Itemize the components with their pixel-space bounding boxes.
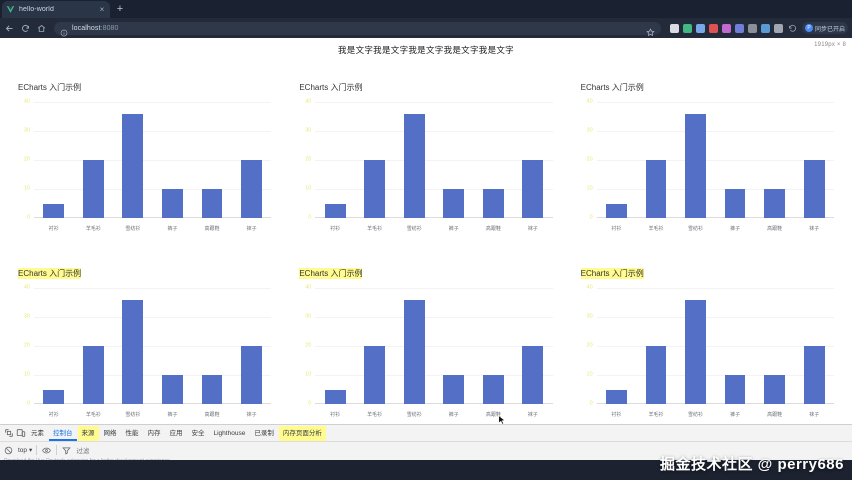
x-axis-tick-label: 衬衫 [597,225,637,232]
bar-series [315,102,552,218]
bar[interactable] [606,204,627,219]
back-arrow-icon[interactable] [4,23,15,34]
profile-label: 同步已开启 [815,24,845,33]
new-tab-icon[interactable]: + [114,4,126,16]
devtools-tab[interactable]: 元素 [27,426,48,441]
extension-icon-5[interactable] [722,24,731,33]
y-axis: 010203040 [18,102,32,218]
chevron-down-icon: ▾ [29,446,32,454]
bar-slot [757,288,792,404]
bar-slot [155,288,190,404]
console-context-label: top [18,447,27,454]
chart-panel[interactable]: ECharts 入门示例010203040衬衫羊毛衫雪纺衫裤子高跟鞋袜子 [285,244,566,424]
bar[interactable] [122,300,143,404]
devtools-tab[interactable]: 控制台 [49,426,77,441]
page-info-icon[interactable] [60,24,68,32]
extension-icon-4[interactable] [709,24,718,33]
bar[interactable] [725,375,746,404]
bar-slot [76,102,111,218]
y-axis-tick-label: 10 [24,372,30,378]
x-axis-tick-label: 衬衫 [34,411,74,418]
x-axis-tick-label: 裤子 [434,411,474,418]
chart-plot-area: 010203040 [18,102,271,218]
bar-slot [318,288,353,404]
bar-slot [234,288,269,404]
bar[interactable] [122,114,143,218]
bar[interactable] [522,160,543,218]
x-axis-tick-label: 高跟鞋 [192,411,232,418]
bar-slot [797,102,832,218]
eye-icon[interactable] [41,445,52,456]
y-axis-tick-label: 20 [24,157,30,163]
y-axis-tick-label: 0 [308,401,311,407]
extension-icon-3[interactable] [696,24,705,33]
bar-slot [234,102,269,218]
x-axis-tick-label: 高跟鞋 [474,225,514,232]
bar[interactable] [162,189,183,218]
address-bar-text: localhost:8080 [72,25,119,32]
devtools-tabbar: 元素控制台来源网络性能内存应用安全Lighthouse已录制内存页面分析 [0,425,852,442]
bar[interactable] [646,346,667,404]
y-axis-tick-label: 20 [24,343,30,349]
bar-slot [397,288,432,404]
devtools-tab[interactable]: 已录制 [250,426,278,441]
close-icon[interactable]: × [98,6,106,14]
x-axis-tick-label: 裤子 [715,411,755,418]
y-axis-tick-label: 10 [587,372,593,378]
y-axis-tick-label: 40 [24,285,30,291]
bar-slot [397,102,432,218]
watermark: 掘金技术社区 @ perry686 [660,453,844,474]
extension-icon-6[interactable] [735,24,744,33]
url-port: :8080 [101,25,119,32]
y-axis-tick-label: 20 [587,157,593,163]
bar-slot [639,102,674,218]
y-axis-tick-label: 30 [305,314,311,320]
chart-panel[interactable]: ECharts 入门示例010203040衬衫羊毛衫雪纺衫裤子高跟鞋袜子 [4,58,285,244]
x-axis-tick-label: 高跟鞋 [755,225,795,232]
bar-slot [678,288,713,404]
vue-logo-icon [6,5,15,14]
chart-plot-area: 010203040 [581,102,834,218]
y-axis-tick-label: 30 [587,314,593,320]
y-axis-tick-label: 40 [587,285,593,291]
extension-icon-9[interactable] [774,24,783,33]
x-axis-labels: 衬衫羊毛衫雪纺衫裤子高跟鞋袜子 [34,411,271,418]
x-axis-tick-label: 裤子 [715,225,755,232]
x-axis-tick-label: 高跟鞋 [755,411,795,418]
filter-icon[interactable] [61,445,72,456]
bar-slot [599,102,634,218]
extension-icon-vue-devtools[interactable] [683,24,692,33]
bar-slot [436,288,471,404]
devtools-tab[interactable]: 网络 [100,426,121,441]
address-bar[interactable]: localhost:8080 [54,22,661,35]
bar-slot [678,102,713,218]
bar[interactable] [325,204,346,219]
y-axis-tick-label: 0 [308,215,311,221]
bar-slot [115,102,150,218]
y-axis-tick-label: 40 [24,99,30,105]
bar[interactable] [43,204,64,219]
chart-title: ECharts 入门示例 [581,268,644,279]
y-axis-tick-label: 20 [305,157,311,163]
y-axis-tick-label: 30 [24,128,30,134]
bar-series [597,288,834,404]
charts-grid: ECharts 入门示例010203040衬衫羊毛衫雪纺衫裤子高跟鞋袜子ECha… [0,56,852,424]
bar-series [34,102,271,218]
bar-series [34,288,271,404]
x-axis-tick-label: 衬衫 [315,225,355,232]
bar[interactable] [364,346,385,404]
y-axis-tick-label: 10 [305,372,311,378]
chart-plot-area: 010203040 [18,288,271,404]
x-axis-tick-label: 裤子 [434,225,474,232]
tab-strip: hello-world × + [0,0,852,18]
bar[interactable] [685,300,706,404]
bar[interactable] [364,160,385,218]
avatar: P [805,24,813,32]
bar-slot [476,288,511,404]
y-axis-tick-label: 30 [587,128,593,134]
chart-panel[interactable]: ECharts 入门示例010203040衬衫羊毛衫雪纺衫裤子高跟鞋袜子 [567,244,848,424]
x-axis-tick-label: 羊毛衫 [74,225,114,232]
bar-slot [515,288,550,404]
bar[interactable] [202,375,223,404]
x-axis-tick-label: 羊毛衫 [355,225,395,232]
bar-slot [357,102,392,218]
extension-icon-1[interactable] [670,24,679,33]
bar-slot [599,288,634,404]
x-axis-tick-label: 雪纺衫 [394,225,434,232]
extension-icon-7[interactable] [748,24,757,33]
bar-slot [476,102,511,218]
x-axis-tick-label: 羊毛衫 [636,411,676,418]
chart-plot-area: 010203040 [581,288,834,404]
bar[interactable] [443,375,464,404]
console-context-selector[interactable]: top ▾ [18,446,32,454]
device-toolbar-icon[interactable] [15,428,26,439]
y-axis-tick-label: 10 [587,186,593,192]
x-axis-tick-label: 袜子 [513,411,553,418]
y-axis-tick-label: 40 [587,99,593,105]
x-axis-labels: 衬衫羊毛衫雪纺衫裤子高跟鞋袜子 [34,225,271,232]
bar-slot [115,288,150,404]
bar[interactable] [241,346,262,404]
tab-title: hello-world [19,6,94,13]
bar-slot [436,102,471,218]
x-axis-tick-label: 雪纺衫 [676,411,716,418]
bar-slot [515,102,550,218]
url-host: localhost [72,25,101,32]
chart-title: ECharts 入门示例 [299,268,362,279]
bar[interactable] [685,114,706,218]
reload-icon[interactable] [20,23,31,34]
x-axis-tick-label: 羊毛衫 [355,411,395,418]
bar[interactable] [804,346,825,404]
x-axis-tick-label: 羊毛衫 [74,411,114,418]
browser-window: hello-world × + localhost:8080 [0,0,852,480]
browser-tab-hello-world[interactable]: hello-world × [2,1,110,18]
chart-plot-area: 010203040 [299,288,552,404]
clear-console-icon[interactable] [3,445,14,456]
extension-icon-8[interactable] [761,24,770,33]
bar[interactable] [325,390,346,405]
y-axis-tick-label: 0 [590,401,593,407]
bar[interactable] [404,114,425,218]
devtools-tab[interactable]: 内存页面分析 [279,426,326,441]
x-axis-tick-label: 羊毛衫 [636,225,676,232]
bar[interactable] [83,346,104,404]
y-axis: 010203040 [299,102,313,218]
devtools-tab[interactable]: 安全 [188,426,209,441]
x-axis-tick-label: 高跟鞋 [474,411,514,418]
x-axis-tick-label: 雪纺衫 [394,411,434,418]
bar-slot [718,102,753,218]
bar-slot [195,288,230,404]
chart-panel[interactable]: ECharts 入门示例010203040衬衫羊毛衫雪纺衫裤子高跟鞋袜子 [4,244,285,424]
browser-chrome: hello-world × + localhost:8080 [0,0,852,38]
y-axis-tick-label: 40 [305,99,311,105]
x-axis-labels: 衬衫羊毛衫雪纺衫裤子高跟鞋袜子 [597,411,834,418]
x-axis-tick-label: 雪纺衫 [113,225,153,232]
bar[interactable] [83,160,104,218]
x-axis-labels: 衬衫羊毛衫雪纺衫裤子高跟鞋袜子 [597,225,834,232]
devtools-tab[interactable]: 来源 [78,426,99,441]
x-axis-tick-label: 裤子 [153,225,193,232]
x-axis-tick-label: 袜子 [513,225,553,232]
y-axis: 010203040 [581,102,595,218]
y-axis-tick-label: 30 [305,128,311,134]
x-axis-tick-label: 雪纺衫 [676,225,716,232]
devtools-tab[interactable]: Lighthouse [210,426,250,441]
y-axis-tick-label: 20 [305,343,311,349]
bar-slot [718,288,753,404]
history-icon[interactable] [787,23,798,34]
x-axis-tick-label: 袜子 [232,411,272,418]
bar[interactable] [606,390,627,405]
y-axis-tick-label: 0 [590,215,593,221]
divider [56,445,57,455]
bar[interactable] [483,375,504,404]
bar-slot [36,288,71,404]
bookmark-star-icon[interactable] [646,24,655,33]
bar-slot [797,288,832,404]
divider [36,445,37,455]
bar[interactable] [764,375,785,404]
bar[interactable] [764,189,785,218]
y-axis-tick-label: 10 [24,186,30,192]
profile-button[interactable]: P 同步已开启 [802,22,848,34]
devtools-tab[interactable]: 内存 [144,426,165,441]
bar[interactable] [202,189,223,218]
x-axis-tick-label: 裤子 [153,411,193,418]
bar[interactable] [646,160,667,218]
bar-series [315,288,552,404]
bar[interactable] [804,160,825,218]
bar-slot [36,102,71,218]
x-axis-tick-label: 雪纺衫 [113,411,153,418]
y-axis-tick-label: 40 [305,285,311,291]
page-title: 我是文字我是文字我是文字我是文字我是文字 [0,38,852,56]
bar[interactable] [43,390,64,405]
bar[interactable] [404,300,425,404]
viewport-size-indicator: 1919px × 8 [814,42,846,48]
bar-slot [757,102,792,218]
chart-plot-area: 010203040 [299,102,552,218]
y-axis: 010203040 [581,288,595,404]
chart-panel[interactable]: ECharts 入门示例010203040衬衫羊毛衫雪纺衫裤子高跟鞋袜子 [285,58,566,244]
chart-panel[interactable]: ECharts 入门示例010203040衬衫羊毛衫雪纺衫裤子高跟鞋袜子 [567,58,848,244]
y-axis-tick-label: 30 [24,314,30,320]
chart-title: ECharts 入门示例 [18,268,81,279]
bar[interactable] [725,189,746,218]
x-axis-labels: 衬衫羊毛衫雪纺衫裤子高跟鞋袜子 [315,225,552,232]
chart-title: ECharts 入门示例 [18,82,81,93]
extensions-row: P 同步已开启 [666,22,848,34]
y-axis: 010203040 [299,288,313,404]
bar[interactable] [483,189,504,218]
inspect-element-icon[interactable] [3,428,14,439]
bar[interactable] [522,346,543,404]
y-axis-tick-label: 0 [27,401,30,407]
bar-slot [639,288,674,404]
bar-slot [357,288,392,404]
bar-series [597,102,834,218]
x-axis-labels: 衬衫羊毛衫雪纺衫裤子高跟鞋袜子 [315,411,552,418]
x-axis-tick-label: 袜子 [232,225,272,232]
console-filter-input[interactable]: 过滤 [76,445,89,455]
bar[interactable] [241,160,262,218]
devtools-tab[interactable]: 应用 [166,426,187,441]
x-axis-tick-label: 高跟鞋 [192,225,232,232]
x-axis-tick-label: 衬衫 [34,225,74,232]
x-axis-tick-label: 衬衫 [315,411,355,418]
x-axis-tick-label: 衬衫 [597,411,637,418]
bar-slot [155,102,190,218]
y-axis-tick-label: 0 [27,215,30,221]
bar[interactable] [162,375,183,404]
x-axis-tick-label: 袜子 [794,411,834,418]
bar[interactable] [443,189,464,218]
devtools-tab[interactable]: 性能 [122,426,143,441]
y-axis: 010203040 [18,288,32,404]
y-axis-tick-label: 20 [587,343,593,349]
browser-toolbar: localhost:8080 P [0,18,852,38]
page-viewport: 1919px × 8 我是文字我是文字我是文字我是文字我是文字 ECharts … [0,38,852,424]
x-axis-tick-label: 袜子 [794,225,834,232]
home-icon[interactable] [36,23,47,34]
bar-slot [76,288,111,404]
y-axis-tick-label: 10 [305,186,311,192]
bar-slot [195,102,230,218]
chart-title: ECharts 入门示例 [299,82,362,93]
bar-slot [318,102,353,218]
chart-title: ECharts 入门示例 [581,82,644,93]
